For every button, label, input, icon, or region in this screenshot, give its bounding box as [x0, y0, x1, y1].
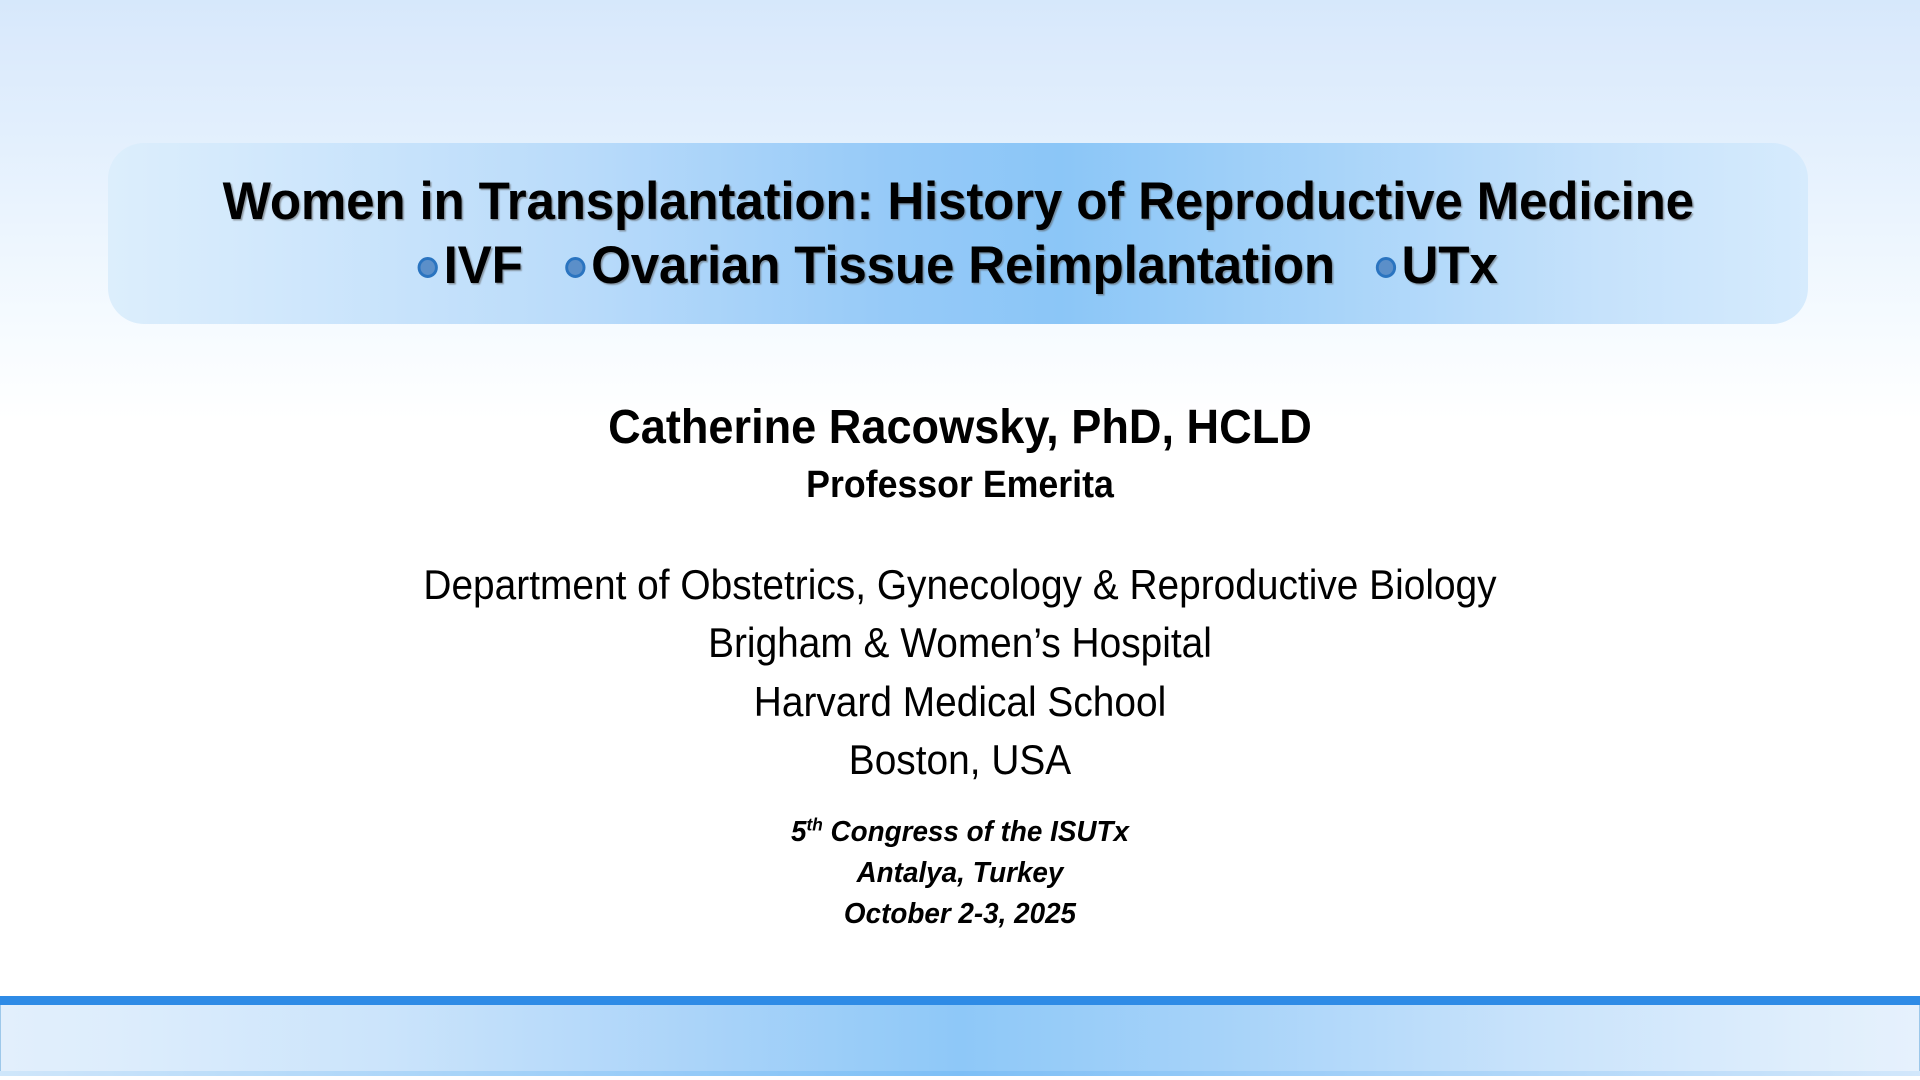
title-topic-ovarian-tissue-reimplantation: Ovarian Tissue Reimplantation: [566, 235, 1336, 296]
conference-name-rest: Congress of the ISUTx: [823, 816, 1129, 848]
conference-block: 5th Congress of the ISUTx Antalya, Turke…: [0, 812, 1920, 936]
author-name: Catherine Racowsky, PhD, HCLD: [58, 400, 1863, 455]
slide-title-line-2: IVF Ovarian Tissue Reimplantation UTx: [418, 235, 1498, 296]
title-topic-ovarian-tissue-reimplantation-label: Ovarian Tissue Reimplantation: [592, 235, 1336, 296]
bottom-decoration-bar: [0, 996, 1920, 1080]
bottom-bar-base: [0, 1076, 1920, 1080]
author-position: Professor Emerita: [58, 461, 1863, 510]
title-topic-utx-label: UTx: [1402, 235, 1498, 296]
title-banner: Women in Transplantation: History of Rep…: [108, 143, 1808, 324]
affiliation-line-school: Harvard Medical School: [72, 673, 1848, 731]
conference-ordinal-suffix: th: [806, 814, 822, 834]
conference-dates: October 2-3, 2025: [38, 894, 1881, 935]
bottom-bar-top-rule: [0, 996, 1920, 1005]
title-topic-utx: UTx: [1376, 235, 1498, 296]
affiliation-line-city: Boston, USA: [72, 731, 1848, 789]
conference-ordinal-number: 5: [791, 816, 806, 848]
affiliation-line-hospital: Brigham & Women’s Hospital: [72, 614, 1848, 672]
affiliation-block: Department of Obstetrics, Gynecology & R…: [0, 556, 1920, 790]
filled-circle-bullet-icon: [418, 257, 438, 278]
affiliation-line-department: Department of Obstetrics, Gynecology & R…: [72, 556, 1848, 614]
presentation-slide: Women in Transplantation: History of Rep…: [0, 0, 1920, 1080]
title-topic-ivf: IVF: [418, 235, 523, 296]
conference-name: 5th Congress of the ISUTx: [38, 812, 1881, 853]
filled-circle-bullet-icon: [1376, 257, 1396, 278]
conference-location: Antalya, Turkey: [38, 853, 1881, 894]
slide-title-line-1: Women in Transplantation: History of Rep…: [222, 171, 1693, 232]
author-block: Catherine Racowsky, PhD, HCLD Professor …: [0, 400, 1920, 510]
title-topic-ivf-label: IVF: [444, 235, 523, 296]
filled-circle-bullet-icon: [566, 257, 586, 278]
bottom-bar-fill: [0, 1005, 1920, 1071]
